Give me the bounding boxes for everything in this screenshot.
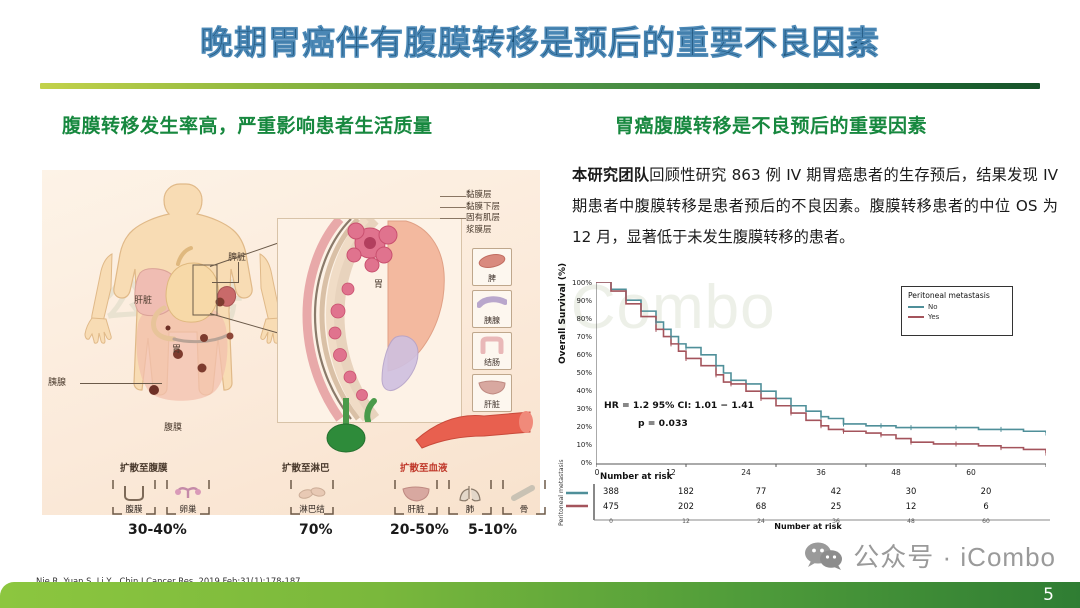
wechat-icon [803,541,845,571]
target-chip-liver: 肝脏 [392,477,440,517]
blood-vessel-icon [414,402,534,452]
anatomy-label-liver: 肝脏 [134,293,152,306]
organ-chip-colon: 结肠 [472,332,512,370]
legend-swatch-no [908,306,924,308]
percent-peritoneum: 30-40% [128,522,187,538]
organ-chip-label: 结肠 [484,357,500,368]
risk-yes-60: 6 [971,501,1001,511]
anatomy-label-peritoneum: 腹膜 [164,420,182,433]
wechat-watermark: 公众号 · iCombo [803,537,1056,574]
zoom-region-box [192,264,218,316]
liver-icon [401,483,431,503]
footer-bar [0,582,1080,608]
lymph-node-icon [297,483,327,503]
risk-table-title: Number at risk [600,472,672,482]
target-chip-ovary: 卵巢 [164,477,212,517]
pancreas-icon [473,291,511,315]
study-paragraph-lead: 本研究团队 [572,166,649,184]
risk-yes-24: 68 [746,501,776,511]
layer-tick-1 [440,196,466,197]
layer-tick-3 [440,218,466,219]
layer-label-serosa: 浆膜层 [466,225,500,237]
study-paragraph: 本研究团队回顾性研究 863 例 IV 期胃癌患者的生存预后，结果发现 IV 期… [572,160,1058,253]
target-chip-lymph-node: 淋巴结 [288,477,336,517]
risk-yes-12: 202 [671,501,701,511]
layer-label-mucosa: 黏膜层 [466,190,500,202]
inset-label-stomach: 胃 [374,277,383,290]
y-tick-60: 60% [566,351,592,359]
human-body-illustration [70,178,302,436]
legend-swatch-yes [908,316,924,318]
risk-no-0: 388 [596,486,626,496]
chart-legend: Peritoneal metastasis No Yes [901,286,1013,336]
risk-table-bottom-title: Number at risk [556,522,1060,531]
y-tick-0: 0% [566,459,592,467]
organ-chip-label: 胰腺 [484,315,500,326]
target-chip-label: 肺 [466,503,475,515]
section-header-right: 胃癌腹膜转移是不良预后的重要因素 [615,111,927,138]
wall-layer-labels: 黏膜层 黏膜下层 固有肌层 浆膜层 [466,190,500,236]
legend-item-yes: Yes [908,313,1006,321]
risk-no-24: 77 [746,486,776,496]
risk-no-12: 182 [671,486,701,496]
hazard-ratio-annotation: HR = 1.2 95% CI: 1.01 − 1.41 [604,400,754,411]
risk-yes-48: 12 [896,501,926,511]
page-title: 晚期胃癌伴有腹膜转移是预后的重要不良因素 [0,16,1080,64]
bone-icon [511,483,537,503]
route-caption-blood: 扩散至血液 [400,460,448,474]
target-chip-label: 肝脏 [407,503,424,515]
colon-icon [473,333,511,357]
risk-yes-0: 475 [596,501,626,511]
legend-label-no: No [928,303,938,311]
y-tick-80: 80% [566,315,592,323]
y-tick-70: 70% [566,333,592,341]
y-tick-20: 20% [566,423,592,431]
y-tick-30: 30% [566,405,592,413]
target-chip-bone: 骨 [500,477,548,517]
lymph-route-icon [310,398,380,460]
anatomy-label-pancreas: 胰腺 [48,375,66,388]
y-tick-40: 40% [566,387,592,395]
risk-no-48: 30 [896,486,926,496]
p-value-annotation: p = 0.033 [638,418,688,429]
route-caption-lymph: 扩散至淋巴 [282,460,330,474]
spleen-icon [473,249,511,273]
target-chip-lung: 肺 [446,477,494,517]
organ-chip-label: 脾 [488,273,496,284]
route-caption-peritoneum: 扩散至腹膜 [120,460,168,474]
stomach-wall-inset: 胃 [277,218,462,423]
legend-title: Peritoneal metastasis [908,291,1006,300]
y-tick-50: 50% [566,369,592,377]
y-tick-100: 100% [566,279,592,287]
risk-table-swatches [564,488,590,514]
target-chip-label: 骨 [520,503,529,515]
target-chip-peritoneum: 腹膜 [110,477,158,517]
organ-chip-spleen: 脾 [472,248,512,286]
layer-label-muscularis: 固有肌层 [466,213,500,225]
number-at-risk-table: Peritoneal metastasis Number at risk 388… [556,470,1060,532]
leader-line-pancreas [80,383,162,384]
y-tick-90: 90% [566,297,592,305]
leader-line-spleen-vertical [238,262,239,283]
percent-lung-bone: 5-10% [468,522,517,538]
section-header-left: 腹膜转移发生率高，严重影响患者生活质量 [62,111,433,138]
percent-lymph: 70% [299,522,333,538]
organ-chip-pancreas: 胰腺 [472,290,512,328]
risk-no-36: 42 [821,486,851,496]
target-chip-label: 卵巢 [179,503,196,515]
liver-icon [473,375,511,399]
y-tick-10: 10% [566,441,592,449]
legend-label-yes: Yes [928,313,939,321]
page-number: 5 [1043,585,1054,605]
legend-item-no: No [908,303,1006,311]
target-chip-label: 淋巴结 [299,503,325,515]
layer-tick-2 [440,207,466,208]
risk-no-60: 20 [971,486,1001,496]
wechat-label: 公众号 · iCombo [853,537,1056,574]
target-chip-label: 腹膜 [125,503,142,515]
anatomy-label-stomach: 胃 [172,342,181,355]
risk-yes-36: 25 [821,501,851,511]
layer-label-submucosa: 黏膜下层 [466,202,500,214]
percent-liver: 20-50% [390,522,449,538]
peritoneum-icon [122,483,146,503]
title-divider [40,83,1040,89]
lung-icon [457,483,483,503]
ovary-icon [175,483,201,503]
